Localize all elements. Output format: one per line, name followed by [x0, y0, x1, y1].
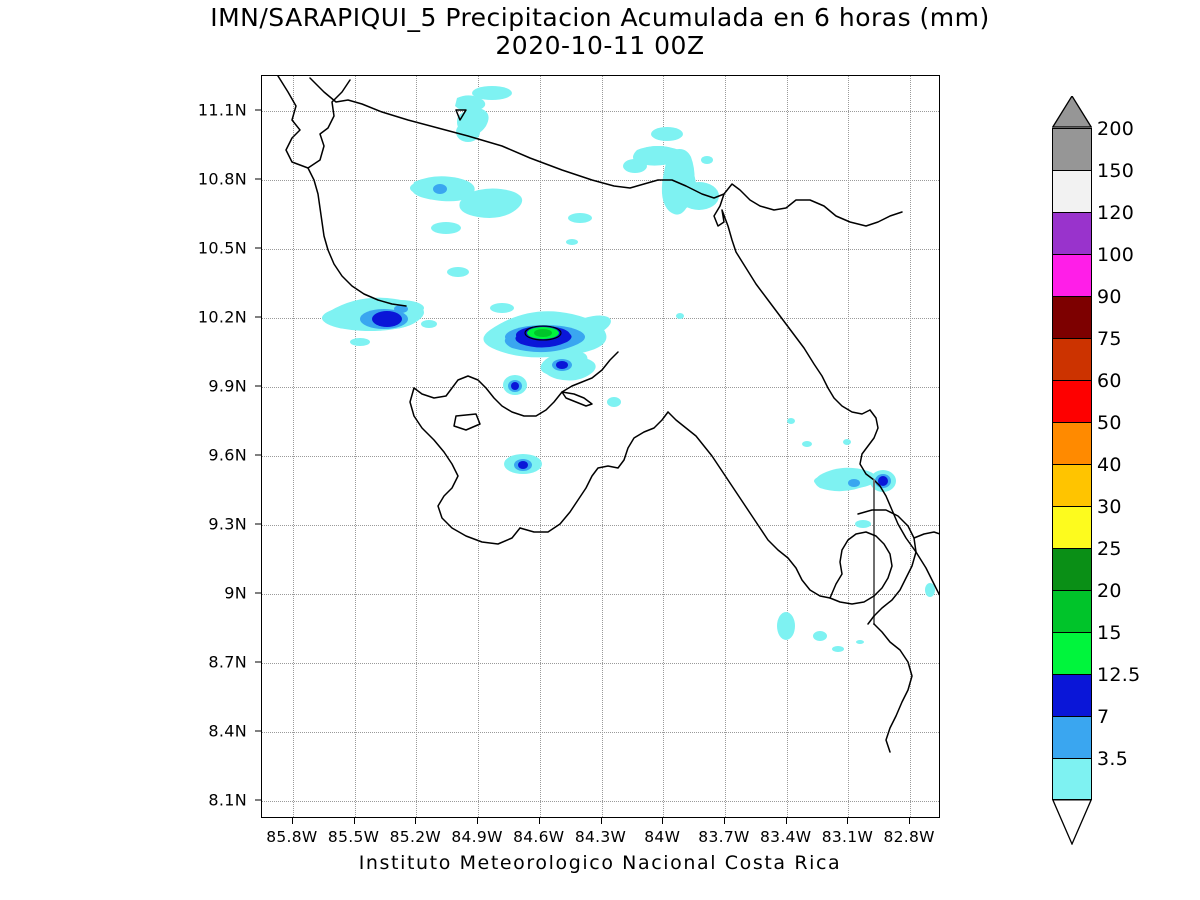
x-tick-label: 83.1W: [822, 828, 873, 846]
x-tick-mark: [601, 818, 602, 824]
inland-lake-marker: [456, 110, 466, 120]
x-tick-label: 85.2W: [390, 828, 441, 846]
x-tick-mark: [786, 818, 787, 824]
y-tick-label: 8.4N: [0, 721, 247, 740]
colorbar-tick-label: 100: [1097, 244, 1134, 266]
colorbar-tick-label: 20: [1097, 580, 1122, 602]
colorbar-tick-label: 200: [1097, 118, 1134, 140]
coastline-gulf-nicoya: [414, 352, 618, 416]
colorbar-tick-label: 120: [1097, 202, 1134, 224]
x-tick-label: 84W: [644, 828, 680, 846]
x-tick-mark: [847, 818, 848, 824]
y-tick-label: 11.1N: [0, 100, 247, 119]
colorbar-tick-label: 150: [1097, 160, 1134, 182]
chart-title-block: IMN/SARAPIQUI_5 Precipitacion Acumulada …: [0, 4, 1200, 60]
colorbar-tick-label: 75: [1097, 328, 1122, 350]
y-tick-label: 10.8N: [0, 169, 247, 188]
footer-credit: Instituto Meteorologico Nacional Costa R…: [0, 852, 1200, 874]
colorbar-tick-label: 60: [1097, 370, 1122, 392]
colorbar-tick-label: 40: [1097, 454, 1122, 476]
x-tick-mark: [724, 818, 725, 824]
coastline-panama-caribbean: [874, 624, 912, 752]
coastline-panama-pacific: [858, 510, 916, 624]
colorbar-tick-label: 25: [1097, 538, 1122, 560]
colorbar-band: 3.5: [1052, 758, 1092, 800]
coastline-layer: [262, 76, 940, 818]
colorbar-tick-label: 50: [1097, 412, 1122, 434]
colorbar-band: 50: [1052, 422, 1092, 464]
colorbar-band: 90: [1052, 296, 1092, 338]
y-tick-label: 9.3N: [0, 514, 247, 533]
colorbar-band: 12.5: [1052, 674, 1092, 716]
colorbar-band: 150: [1052, 170, 1092, 212]
colorbar-under-arrow: [1052, 799, 1092, 845]
coastline-panama-pacific-2: [914, 532, 940, 538]
colorbar-tick-label: 3.5: [1097, 748, 1128, 770]
y-tick-label: 9.9N: [0, 376, 247, 395]
coastline-caribbean-south: [860, 410, 940, 596]
coastline-guanacaste: [308, 168, 406, 306]
y-tick-label: 9N: [0, 583, 247, 602]
colorbar-bands: 20015012010090756050403025201512.573.5: [1052, 128, 1092, 800]
y-tick-label: 10.5N: [0, 238, 247, 257]
y-tick-label: 8.1N: [0, 790, 247, 809]
colorbar-band: 120: [1052, 212, 1092, 254]
colorbar-band: 25: [1052, 548, 1092, 590]
colorbar-tick-label: 15: [1097, 622, 1122, 644]
coastline-pacific-central: [520, 412, 668, 532]
colorbar-band: 7: [1052, 716, 1092, 758]
colorbar-band: 60: [1052, 380, 1092, 422]
x-tick-label: 83.4W: [760, 828, 811, 846]
coastline-nicoya-peninsula: [410, 388, 520, 544]
chart-subtitle: 2020-10-11 00Z: [0, 32, 1200, 60]
x-tick-mark: [662, 818, 663, 824]
x-tick-mark: [909, 818, 910, 824]
colorbar-tick-label: 7: [1097, 706, 1109, 728]
colorbar[interactable]: 20015012010090756050403025201512.573.5: [1052, 96, 1092, 845]
coastline-pacific-south: [668, 412, 830, 598]
x-tick-label: 83.7W: [698, 828, 749, 846]
y-tick-label: 9.6N: [0, 445, 247, 464]
colorbar-tick-label: 12.5: [1097, 664, 1141, 686]
colorbar-tick-label: 90: [1097, 286, 1122, 308]
map-canvas: [262, 76, 939, 817]
colorbar-band: 30: [1052, 506, 1092, 548]
x-tick-mark: [292, 818, 293, 824]
x-tick-label: 85.5W: [328, 828, 379, 846]
colorbar-band: 200: [1052, 128, 1092, 170]
x-tick-mark: [354, 818, 355, 824]
colorbar-band: 40: [1052, 464, 1092, 506]
coastline-nicaragua-pacific: [278, 76, 350, 168]
colorbar-band: 100: [1052, 254, 1092, 296]
map-plot-area[interactable]: [261, 75, 940, 818]
coastline-puntarenas-spit: [562, 392, 592, 406]
colorbar-band: 75: [1052, 338, 1092, 380]
coastline-osa-peninsula: [830, 532, 892, 604]
x-tick-label: 84.3W: [575, 828, 626, 846]
border-nicaragua: [310, 78, 902, 226]
x-tick-mark: [539, 818, 540, 824]
x-tick-label: 85.8W: [266, 828, 317, 846]
colorbar-band: 20: [1052, 590, 1092, 632]
colorbar-tick-label: 30: [1097, 496, 1122, 518]
x-tick-label: 84.6W: [513, 828, 564, 846]
island-chira: [454, 414, 480, 430]
y-tick-label: 10.2N: [0, 307, 247, 326]
x-tick-label: 84.9W: [451, 828, 502, 846]
y-tick-label: 8.7N: [0, 652, 247, 671]
page-title: IMN/SARAPIQUI_5 Precipitacion Acumulada …: [0, 4, 1200, 32]
x-tick-mark: [477, 818, 478, 824]
coastline-caribbean: [714, 194, 870, 414]
x-tick-mark: [415, 818, 416, 824]
x-tick-label: 82.8W: [883, 828, 934, 846]
colorbar-band: 15: [1052, 632, 1092, 674]
colorbar-over-arrow: [1052, 96, 1092, 128]
